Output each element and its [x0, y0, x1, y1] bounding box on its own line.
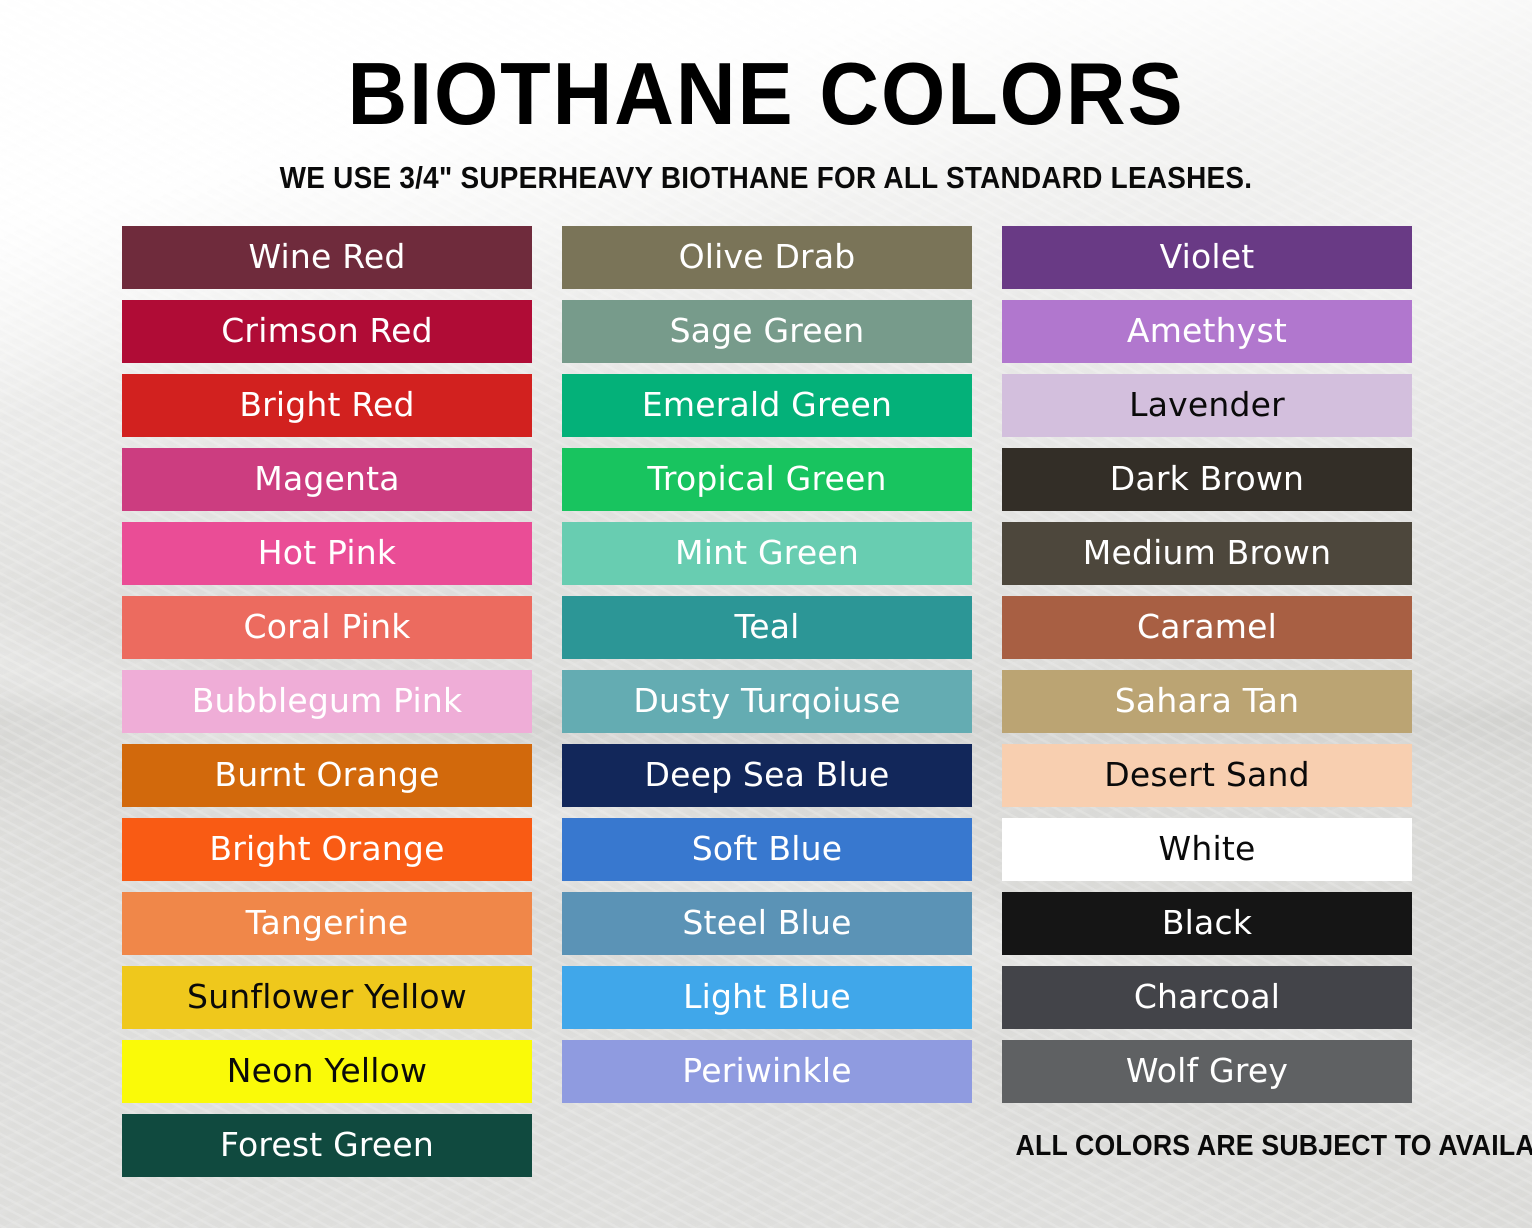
header: BIOTHANE COLORS WE USE 3/4" SUPERHEAVY B…	[0, 0, 1532, 196]
color-swatch[interactable]: Charcoal	[1002, 966, 1412, 1029]
color-swatch[interactable]: White	[1002, 818, 1412, 881]
color-swatch[interactable]: Wolf Grey	[1002, 1040, 1412, 1103]
color-swatch-label: Deep Sea Blue	[644, 758, 889, 791]
color-swatch-label: Steel Blue	[682, 906, 851, 939]
color-swatch-label: Sunflower Yellow	[187, 980, 467, 1013]
color-swatch[interactable]: Sage Green	[562, 300, 972, 363]
color-swatch-label: Dark Brown	[1110, 462, 1304, 495]
color-swatch[interactable]: Bubblegum Pink	[122, 670, 532, 733]
color-swatch-label: Violet	[1160, 240, 1255, 273]
page-title: BIOTHANE COLORS	[46, 50, 1486, 138]
color-swatch[interactable]: Olive Drab	[562, 226, 972, 289]
color-swatch[interactable]: Magenta	[122, 448, 532, 511]
color-swatch-label: Hot Pink	[258, 536, 396, 569]
color-swatch[interactable]: Deep Sea Blue	[562, 744, 972, 807]
color-swatch-label: Olive Drab	[679, 240, 856, 273]
color-swatch[interactable]: Caramel	[1002, 596, 1412, 659]
color-swatch[interactable]: Burnt Orange	[122, 744, 532, 807]
color-swatch[interactable]: Tangerine	[122, 892, 532, 955]
color-swatch[interactable]: Teal	[562, 596, 972, 659]
color-swatch-label: Black	[1162, 906, 1252, 939]
swatch-column-3: VioletAmethystLavenderDark BrownMedium B…	[1002, 226, 1412, 1177]
biothane-color-chart: BIOTHANE COLORS WE USE 3/4" SUPERHEAVY B…	[0, 0, 1532, 1228]
color-swatch-label: Tangerine	[246, 906, 409, 939]
color-swatch-label: White	[1159, 832, 1256, 865]
color-swatch[interactable]: Dusty Turqoiuse	[562, 670, 972, 733]
color-swatch[interactable]: Hot Pink	[122, 522, 532, 585]
color-swatch-label: Bright Red	[239, 388, 414, 421]
color-swatch[interactable]: Neon Yellow	[122, 1040, 532, 1103]
color-swatch-label: Tropical Green	[647, 462, 886, 495]
color-swatch[interactable]: Soft Blue	[562, 818, 972, 881]
color-swatch[interactable]: Periwinkle	[562, 1040, 972, 1103]
color-swatch[interactable]: Bright Red	[122, 374, 532, 437]
page-subtitle: WE USE 3/4" SUPERHEAVY BIOTHANE FOR ALL …	[77, 160, 1456, 196]
color-swatch[interactable]: Mint Green	[562, 522, 972, 585]
color-swatch-label: Wolf Grey	[1126, 1054, 1288, 1087]
color-swatch-label: Crimson Red	[221, 314, 433, 347]
color-swatch[interactable]: Emerald Green	[562, 374, 972, 437]
color-swatch-label: Medium Brown	[1083, 536, 1331, 569]
color-swatch-label: Charcoal	[1134, 980, 1280, 1013]
color-swatch-label: Soft Blue	[692, 832, 842, 865]
color-swatch[interactable]: Desert Sand	[1002, 744, 1412, 807]
color-swatch-label: Neon Yellow	[227, 1054, 427, 1087]
color-swatch[interactable]: Medium Brown	[1002, 522, 1412, 585]
color-swatch[interactable]: Crimson Red	[122, 300, 532, 363]
color-swatch-label: Sahara Tan	[1115, 684, 1299, 717]
color-swatch[interactable]: Tropical Green	[562, 448, 972, 511]
color-swatch-label: Forest Green	[220, 1128, 434, 1161]
color-swatch[interactable]: Sunflower Yellow	[122, 966, 532, 1029]
color-swatch-label: Caramel	[1137, 610, 1277, 643]
color-swatch-grid: Wine RedCrimson RedBright RedMagentaHot …	[122, 226, 1412, 1177]
color-swatch[interactable]: Bright Orange	[122, 818, 532, 881]
color-swatch-label: Sage Green	[670, 314, 865, 347]
color-swatch[interactable]: Forest Green	[122, 1114, 532, 1177]
color-swatch-label: Teal	[734, 610, 799, 643]
color-swatch-label: Amethyst	[1127, 314, 1287, 347]
swatch-column-2: Olive DrabSage GreenEmerald GreenTropica…	[562, 226, 972, 1177]
color-swatch-label: Mint Green	[675, 536, 859, 569]
color-swatch[interactable]: Coral Pink	[122, 596, 532, 659]
color-swatch-label: Magenta	[254, 462, 399, 495]
color-swatch-label: Bubblegum Pink	[192, 684, 463, 717]
color-swatch-label: Coral Pink	[243, 610, 410, 643]
color-swatch-label: Bright Orange	[209, 832, 444, 865]
color-swatch-label: Periwinkle	[682, 1054, 851, 1087]
color-swatch[interactable]: Light Blue	[562, 966, 972, 1029]
color-swatch-label: Desert Sand	[1104, 758, 1309, 791]
color-swatch-label: Light Blue	[683, 980, 851, 1013]
color-swatch-label: Dusty Turqoiuse	[633, 684, 900, 717]
color-swatch[interactable]: Violet	[1002, 226, 1412, 289]
color-swatch[interactable]: Lavender	[1002, 374, 1412, 437]
color-swatch-label: Lavender	[1129, 388, 1285, 421]
color-swatch-label: Wine Red	[248, 240, 405, 273]
color-swatch[interactable]: Black	[1002, 892, 1412, 955]
color-swatch[interactable]: Steel Blue	[562, 892, 972, 955]
color-swatch[interactable]: Wine Red	[122, 226, 532, 289]
color-swatch-label: Burnt Orange	[214, 758, 439, 791]
color-swatch-label: Emerald Green	[642, 388, 892, 421]
color-swatch[interactable]: Dark Brown	[1002, 448, 1412, 511]
swatch-column-1: Wine RedCrimson RedBright RedMagentaHot …	[122, 226, 532, 1177]
availability-note: ALL COLORS ARE SUBJECT TO AVAILABILITY.	[1016, 1130, 1396, 1163]
color-swatch[interactable]: Sahara Tan	[1002, 670, 1412, 733]
color-swatch[interactable]: Amethyst	[1002, 300, 1412, 363]
